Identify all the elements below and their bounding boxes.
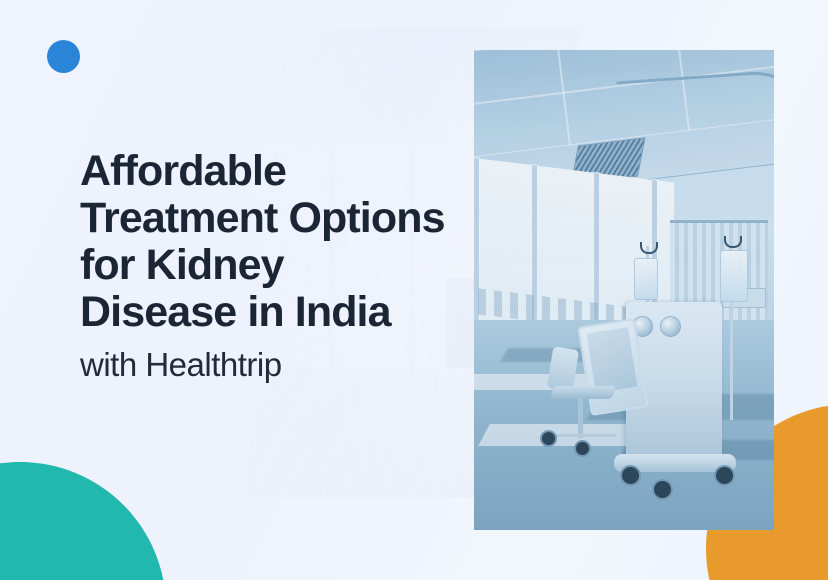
headline-block: Affordable Treatment Options for Kidney … xyxy=(80,148,460,384)
photo-blue-tint-overlay xyxy=(474,50,774,530)
page-title: Affordable Treatment Options for Kidney … xyxy=(80,148,460,336)
blue-circle-decoration xyxy=(47,40,80,73)
hospital-dialysis-room-photo xyxy=(474,50,774,530)
page-subtitle: with Healthtrip xyxy=(80,346,460,384)
photo-scene xyxy=(474,50,774,530)
poster-canvas: Affordable Treatment Options for Kidney … xyxy=(0,0,828,580)
